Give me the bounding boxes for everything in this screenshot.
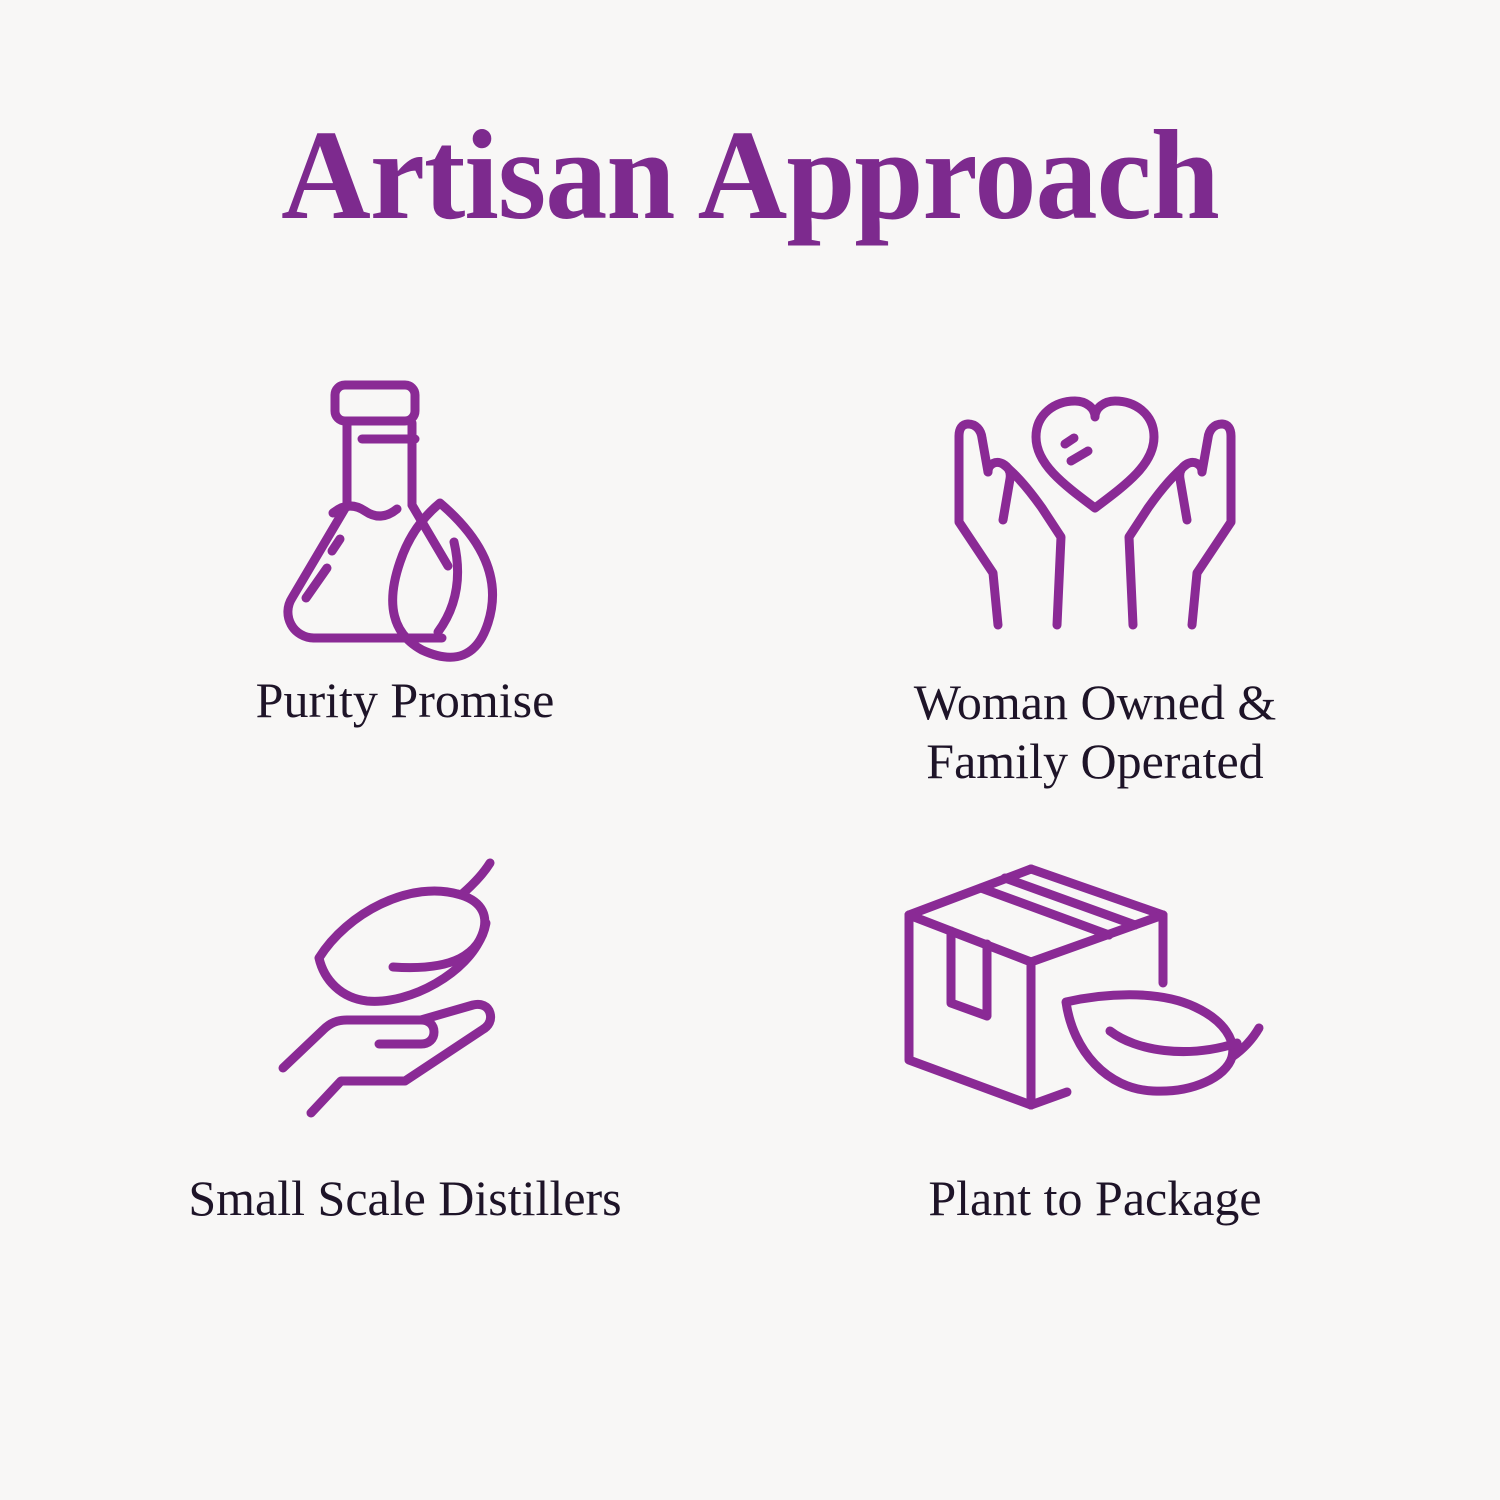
feature-label: Small Scale Distillers — [188, 1169, 621, 1228]
feature-label: Plant to Package — [928, 1169, 1261, 1228]
flask-leaf-icon — [270, 355, 540, 655]
feature-grid: Purity Promise — [60, 355, 1440, 1315]
hands-holding-heart-icon — [930, 355, 1260, 655]
feature-item-plant-to-package: Plant to Package — [750, 835, 1440, 1315]
feature-item-small-scale-distillers: Small Scale Distillers — [60, 835, 750, 1315]
feature-label: Purity Promise — [256, 671, 555, 730]
feature-label: Woman Owned & Family Operated — [914, 673, 1277, 791]
package-box-leaf-icon — [895, 835, 1295, 1135]
feature-item-purity-promise: Purity Promise — [60, 355, 750, 835]
feature-item-woman-owned: Woman Owned & Family Operated — [750, 355, 1440, 835]
page-title: Artisan Approach — [23, 108, 1478, 242]
page-title-container: Artisan Approach — [0, 108, 1500, 242]
artisan-approach-panel: Artisan Approach — [0, 0, 1500, 1500]
leaf-in-open-hand-icon — [275, 835, 535, 1135]
